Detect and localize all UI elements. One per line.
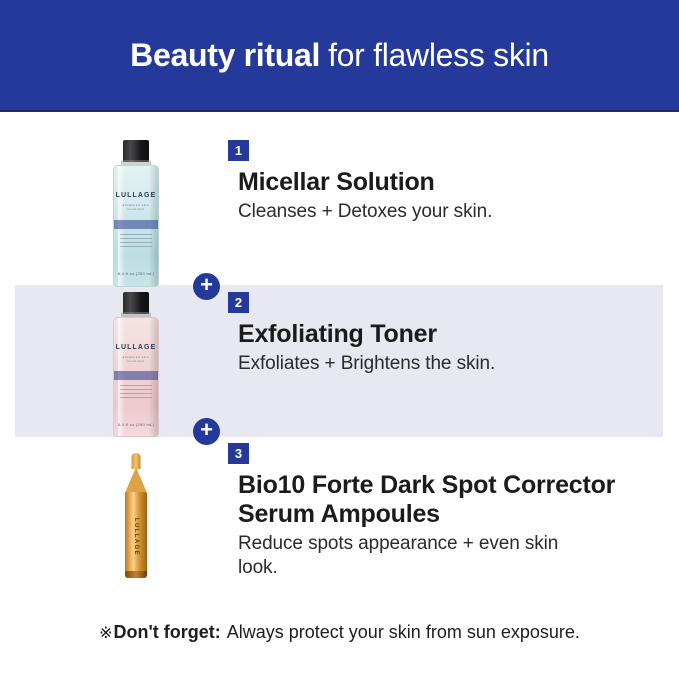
bottle-body: LULLAGE advanced skin solutions 8.4 fl o… bbox=[113, 317, 159, 437]
step-title-3: Bio10 Forte Dark Spot Corrector Serum Am… bbox=[238, 471, 628, 529]
step-description-1: Cleanses + Detoxes your skin. bbox=[238, 200, 492, 224]
step-row-1: LULLAGE advanced skin solutions 8.4 fl o… bbox=[0, 140, 679, 285]
footer-note: ※ Don't forget: Always protect your skin… bbox=[0, 622, 679, 643]
ampoule-base bbox=[125, 571, 147, 578]
step-text-1: 1 Micellar Solution Cleanses + Detoxes y… bbox=[228, 140, 492, 224]
step-row-2: LULLAGE advanced skin solutions 8.4 fl o… bbox=[0, 292, 679, 434]
sun-icon: ※ bbox=[99, 623, 112, 643]
step-text-3: 3 Bio10 Forte Dark Spot Corrector Serum … bbox=[228, 443, 628, 580]
step-description-3: Reduce spots appearance + even skin look… bbox=[238, 532, 598, 580]
step-title-2: Exfoliating Toner bbox=[238, 320, 495, 349]
bottle-label-strip bbox=[114, 371, 158, 380]
step-number-badge-2: 2 bbox=[228, 292, 249, 313]
step-number-badge-1: 1 bbox=[228, 140, 249, 161]
footer-bold-text: Don't forget: bbox=[113, 622, 220, 643]
bottle-brand-label: LULLAGE bbox=[114, 344, 158, 351]
footer-normal-text: Always protect your skin from sun exposu… bbox=[227, 622, 580, 643]
plus-icon: + bbox=[200, 419, 213, 441]
plus-connector-2: + bbox=[193, 418, 220, 445]
bottle-volume-label: 8.4 fl oz (250 mL) bbox=[114, 422, 158, 427]
product-image-2: LULLAGE advanced skin solutions 8.4 fl o… bbox=[88, 292, 184, 434]
bottle-label-strip bbox=[114, 220, 158, 229]
plus-connector-1: + bbox=[193, 273, 220, 300]
bottle-fineprint bbox=[120, 385, 152, 399]
bottle-volume-label: 8.4 fl oz (250 mL) bbox=[114, 271, 158, 276]
bottle-body: LULLAGE advanced skin solutions 8.4 fl o… bbox=[113, 165, 159, 287]
step-text-2: 2 Exfoliating Toner Exfoliates + Brighte… bbox=[228, 292, 495, 376]
bottle-cap-icon bbox=[123, 140, 149, 162]
step-row-3: LULLAGE 3 Bio10 Forte Dark Spot Correcto… bbox=[0, 443, 679, 598]
bottle-brand-label: LULLAGE bbox=[114, 192, 158, 199]
infographic-page: Beauty ritual for flawless skin LULLAGE … bbox=[0, 0, 679, 679]
ampoule-vial: LULLAGE bbox=[125, 492, 147, 578]
header-banner: Beauty ritual for flawless skin bbox=[0, 0, 679, 112]
product-image-3: LULLAGE bbox=[88, 443, 184, 598]
ampoule-shoulder bbox=[125, 467, 147, 493]
step-description-2: Exfoliates + Brightens the skin. bbox=[238, 352, 495, 376]
plus-icon: + bbox=[200, 274, 213, 296]
bottle-brand-sub-label: advanced skin solutions bbox=[114, 203, 158, 211]
bottle-fineprint bbox=[120, 234, 152, 248]
page-title: Beauty ritual for flawless skin bbox=[0, 0, 679, 110]
page-title-strong: Beauty ritual bbox=[130, 37, 320, 74]
bottle-cap-icon bbox=[123, 292, 149, 314]
page-title-light: for flawless skin bbox=[328, 37, 549, 74]
product-image-1: LULLAGE advanced skin solutions 8.4 fl o… bbox=[88, 140, 184, 285]
ampoule-brand-label: LULLAGE bbox=[133, 518, 139, 556]
step-title-1: Micellar Solution bbox=[238, 168, 492, 197]
step-number-badge-3: 3 bbox=[228, 443, 249, 464]
bottle-brand-sub-label: advanced skin solutions bbox=[114, 355, 158, 363]
